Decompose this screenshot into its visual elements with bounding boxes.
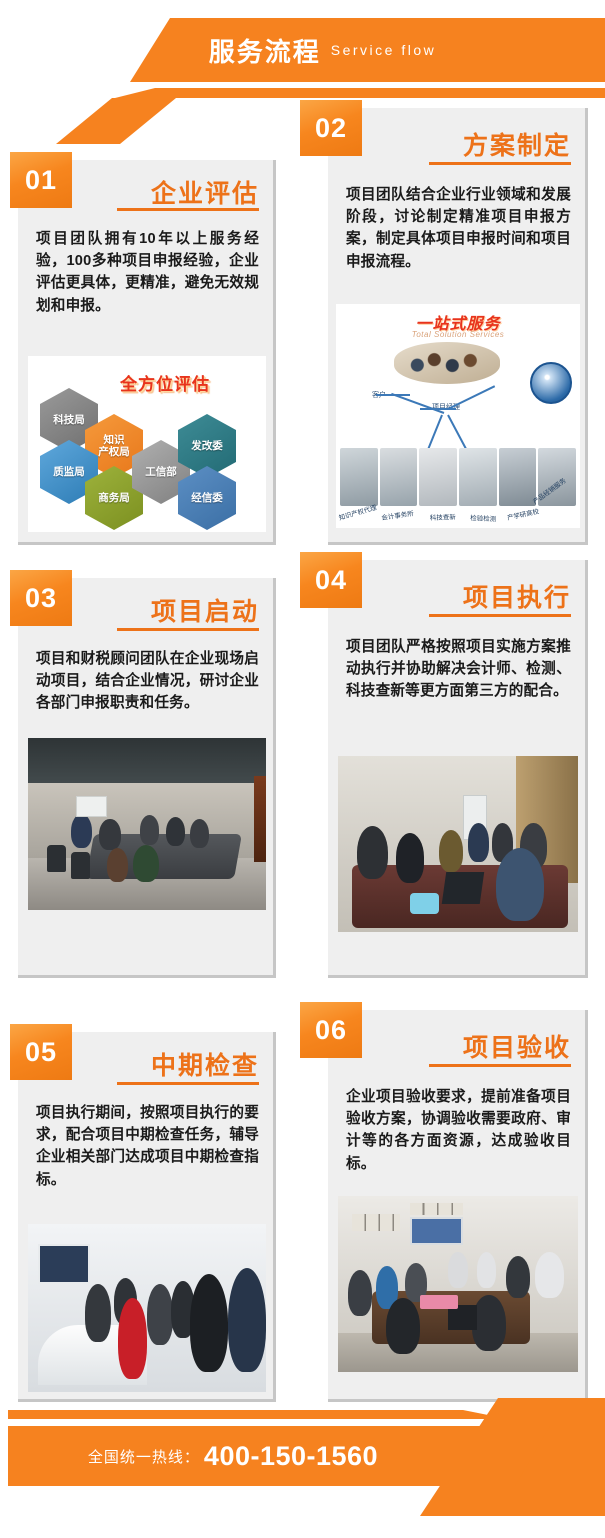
photo-person [107, 848, 128, 882]
photo-conference-room [28, 738, 266, 910]
photo-person-foreground [228, 1268, 266, 1372]
oss-label-3: 科技查新 [430, 511, 456, 522]
step-card-03: 项目启动 项目和财税顾问团队在企业现场启动项目，结合企业情况，研讨企业各部门申报… [18, 578, 276, 978]
hotline-number[interactable]: 400-150-1560 [204, 1441, 378, 1472]
card-title-04: 项目执行 [463, 578, 571, 614]
photo-person-red-coat [118, 1298, 147, 1379]
photo-gift-boxes [420, 1295, 458, 1309]
photo-scene-04 [338, 756, 578, 932]
photo-laptop [441, 872, 484, 904]
photo-person [357, 826, 388, 879]
step-badge-06: 06 [300, 1002, 362, 1058]
photo-person [190, 819, 209, 848]
header-accent-stripe [0, 88, 605, 98]
title-underline-01 [117, 208, 259, 211]
photo-chair [47, 845, 66, 873]
photo-person-foreground [386, 1298, 420, 1354]
oss-certification-seal-icon [530, 362, 572, 404]
photo-person [166, 817, 185, 846]
title-underline-02 [429, 162, 571, 165]
photo-certificate-wall [410, 1203, 463, 1215]
oss-label-4: 检验检测 [470, 512, 496, 523]
photo-person [396, 833, 425, 882]
oss-subtitle: Total Solution Services [336, 330, 580, 339]
step-badge-04: 04 [300, 552, 362, 608]
photo-person [71, 814, 92, 848]
photo-scene-05 [28, 1224, 266, 1392]
card-title-03: 项目启动 [151, 592, 259, 628]
footer-hotline-group: 全国统一热线： 400-150-1560 [8, 1426, 478, 1486]
oss-cell-1 [340, 448, 378, 506]
photo-scene-06 [338, 1196, 578, 1372]
card-body-05: 项目执行期间，按照项目执行的要求，配合项目中期检查任务，辅导企业相关部门达成项目… [36, 1102, 259, 1191]
hexagon-diagram-title: 全方位评估 [120, 370, 210, 395]
card-title-02: 方案制定 [463, 126, 571, 162]
photo-person [133, 845, 159, 883]
hexagon-diagram: 全方位评估 科技局 知识 产权局 质监局 商务局 工信部 发改委 经信委 [28, 356, 266, 532]
title-underline-06 [429, 1064, 571, 1067]
oss-label-2: 会计事务所 [381, 508, 415, 522]
photo-chair [71, 852, 90, 880]
card-body-04: 项目团队严格按照项目实施方案推动执行并协助解决会计师、检测、科技查新等更方面第三… [346, 636, 571, 703]
photo-bag [410, 893, 439, 914]
card-title-01: 企业评估 [151, 174, 259, 210]
title-underline-05 [117, 1082, 259, 1085]
photo-laptop-meeting [338, 756, 578, 932]
oss-cell-2 [380, 448, 418, 506]
photo-display-screen [38, 1244, 90, 1284]
photo-person [477, 1252, 496, 1287]
step-card-05: 中期检查 项目执行期间，按照项目执行的要求，配合项目中期检查任务，辅导企业相关部… [18, 1032, 276, 1402]
photo-person [140, 815, 159, 844]
oss-arrow-3 [448, 385, 496, 410]
header-title-group: 服务流程 Service flow [0, 18, 605, 82]
photo-person [348, 1270, 372, 1316]
photo-scene-03 [28, 738, 266, 910]
hotline-label: 全国统一热线： [88, 1446, 200, 1467]
oss-hero-photo [394, 342, 500, 384]
card-body-01: 项目团队拥有10年以上服务经验，100多种项目申报经验，企业评估更具体，更精准，… [36, 228, 259, 317]
photo-certificate-wall [352, 1214, 400, 1232]
photo-person [147, 1284, 173, 1344]
photo-person [85, 1284, 111, 1341]
step-badge-01: 01 [10, 152, 72, 208]
page-subtitle: Service flow [331, 42, 436, 58]
photo-whiteboard [76, 796, 107, 817]
page-title: 服务流程 [209, 32, 321, 69]
photo-person [439, 830, 463, 872]
page-footer: 全国统一热线： 400-150-1560 [0, 1398, 605, 1538]
card-title-06: 项目验收 [463, 1028, 571, 1064]
step-card-04: 项目执行 项目团队严格按照项目实施方案推动执行并协助解决会计师、检测、科技查新等… [328, 560, 588, 978]
card-body-03: 项目和财税顾问团队在企业现场启动项目，结合企业情况，研讨企业各部门申报职责和任务… [36, 648, 259, 715]
step-card-01: 企业评估 项目团队拥有10年以上服务经验，100多种项目申报经验，企业评估更具体… [18, 160, 276, 545]
photo-person-foreground [190, 1274, 228, 1371]
photo-ceiling [28, 738, 266, 783]
step-badge-03: 03 [10, 570, 72, 626]
photo-person [506, 1256, 530, 1298]
oss-cell-4 [459, 448, 497, 506]
oss-label-5: 产学研高校 [506, 505, 540, 522]
photo-person [448, 1252, 467, 1287]
card-body-06: 企业项目验收要求，提前准备项目验收方案，协调验收需要政府、审计等的各方面资源，达… [346, 1086, 571, 1175]
step-badge-02: 02 [300, 100, 362, 156]
step-card-06: 项目验收 企业项目验收要求，提前准备项目验收方案，协调验收需要政府、审计等的各方… [328, 1010, 588, 1402]
step-badge-05: 05 [10, 1024, 72, 1080]
photo-person [468, 823, 490, 862]
title-underline-03 [117, 628, 259, 631]
title-underline-04 [429, 614, 571, 617]
photo-person [99, 819, 120, 850]
photo-person-foreground [496, 848, 544, 922]
photo-person [535, 1252, 564, 1298]
step-card-02: 方案制定 项目团队结合企业行业领域和发展阶段，讨论制定精准项目申报方案，制定具体… [328, 108, 588, 545]
photo-acceptance-meeting [338, 1196, 578, 1372]
photo-projection-screen [410, 1217, 463, 1245]
photo-person-foreground [472, 1295, 506, 1351]
card-title-05: 中期检查 [151, 1046, 259, 1082]
oss-cell-3 [419, 448, 457, 506]
photo-laptop [448, 1305, 477, 1330]
card-body-02: 项目团队结合企业行业领域和发展阶段，讨论制定精准项目申报方案，制定具体项目申报时… [346, 184, 571, 273]
one-stop-service-diagram: 一站式服务 Total Solution Services 客户 项目经理 知识… [336, 304, 580, 528]
photo-wood-panel [254, 776, 266, 862]
photo-showroom-tour [28, 1224, 266, 1392]
